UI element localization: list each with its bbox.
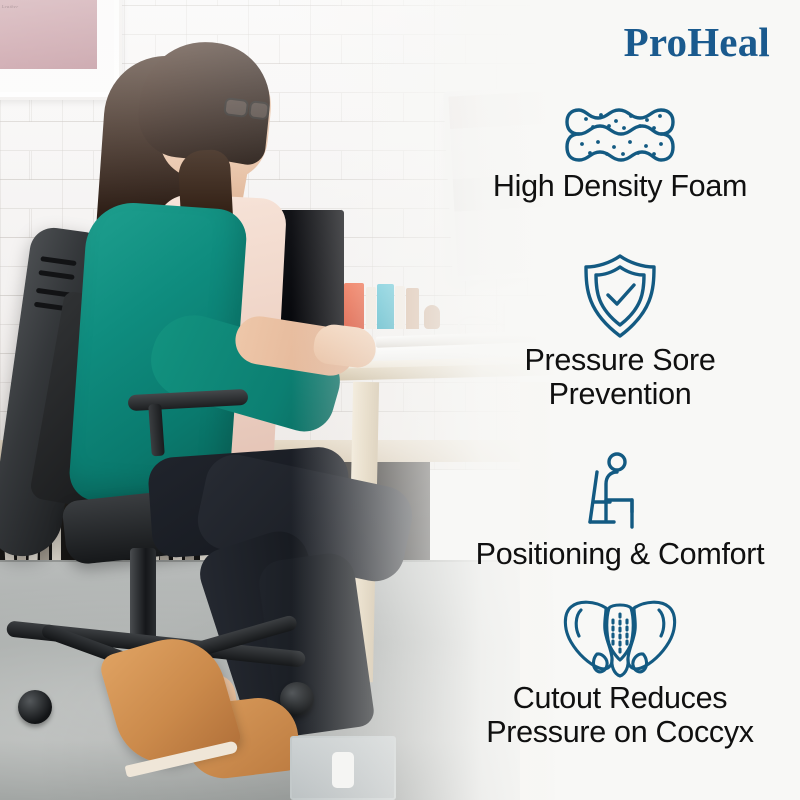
poster-caption: Porter Leather bbox=[0, 4, 18, 9]
backrest-slot bbox=[38, 270, 74, 280]
feature-label: High Density Foam bbox=[440, 170, 800, 204]
book-white-1 bbox=[366, 287, 376, 329]
lens-right bbox=[248, 100, 270, 120]
foam-block-icon bbox=[440, 104, 800, 166]
chair-gas-cylinder bbox=[130, 548, 156, 644]
feature-label: Pressure Sore Prevention bbox=[440, 344, 800, 411]
feature-label: Cutout Reduces Pressure on Coccyx bbox=[440, 682, 800, 749]
feature-high-density-foam: High Density Foam bbox=[440, 104, 800, 204]
feature-pressure-sore-prevention: Pressure Sore Prevention bbox=[440, 252, 800, 411]
crate-clip bbox=[332, 752, 354, 788]
lens-left bbox=[223, 97, 249, 118]
product-feature-graphic: Porter Leather bbox=[0, 0, 800, 800]
feature-label: Positioning & Comfort bbox=[440, 538, 800, 572]
backrest-slot bbox=[40, 256, 76, 266]
wooden-knob bbox=[424, 305, 440, 329]
pelvis-bone-icon bbox=[440, 596, 800, 678]
feature-positioning-comfort: Positioning & Comfort bbox=[440, 452, 800, 572]
brand-logo: ProHeal bbox=[624, 22, 770, 63]
book-teal bbox=[377, 284, 394, 329]
book-white-2 bbox=[395, 286, 405, 329]
wall-art-frame: Porter Leather bbox=[0, 0, 122, 100]
chair-caster bbox=[18, 690, 52, 724]
feature-cutout-coccyx: Cutout Reduces Pressure on Coccyx bbox=[440, 596, 800, 749]
shield-check-icon bbox=[440, 252, 800, 340]
book-tan bbox=[406, 288, 419, 329]
book-orange bbox=[344, 283, 364, 329]
poster-art: Porter Leather bbox=[0, 0, 97, 69]
storage-crate bbox=[290, 736, 396, 800]
seated-person-icon bbox=[440, 452, 800, 534]
